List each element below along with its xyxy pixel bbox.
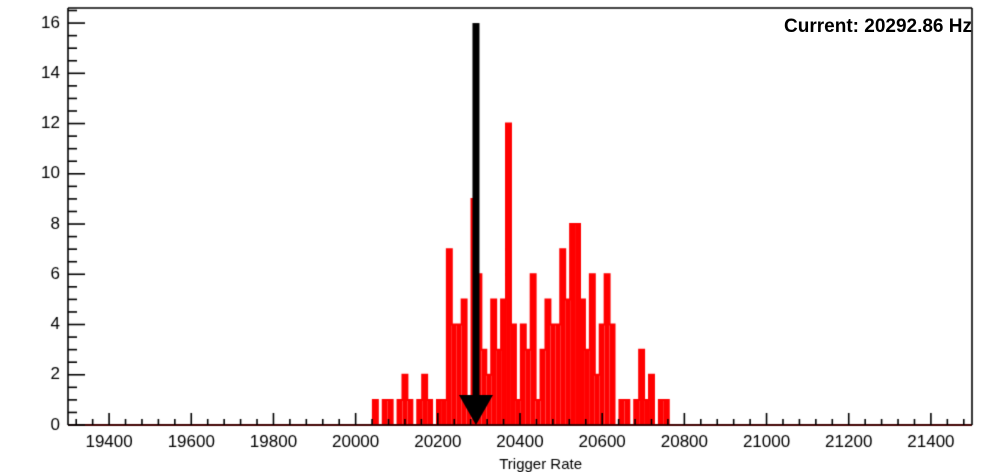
trigger-rate-histogram bbox=[0, 0, 996, 472]
current-rate-readout: Current: 20292.86 Hz bbox=[784, 16, 972, 38]
histogram-page: Current: 20292.86 Hz bbox=[0, 0, 996, 472]
